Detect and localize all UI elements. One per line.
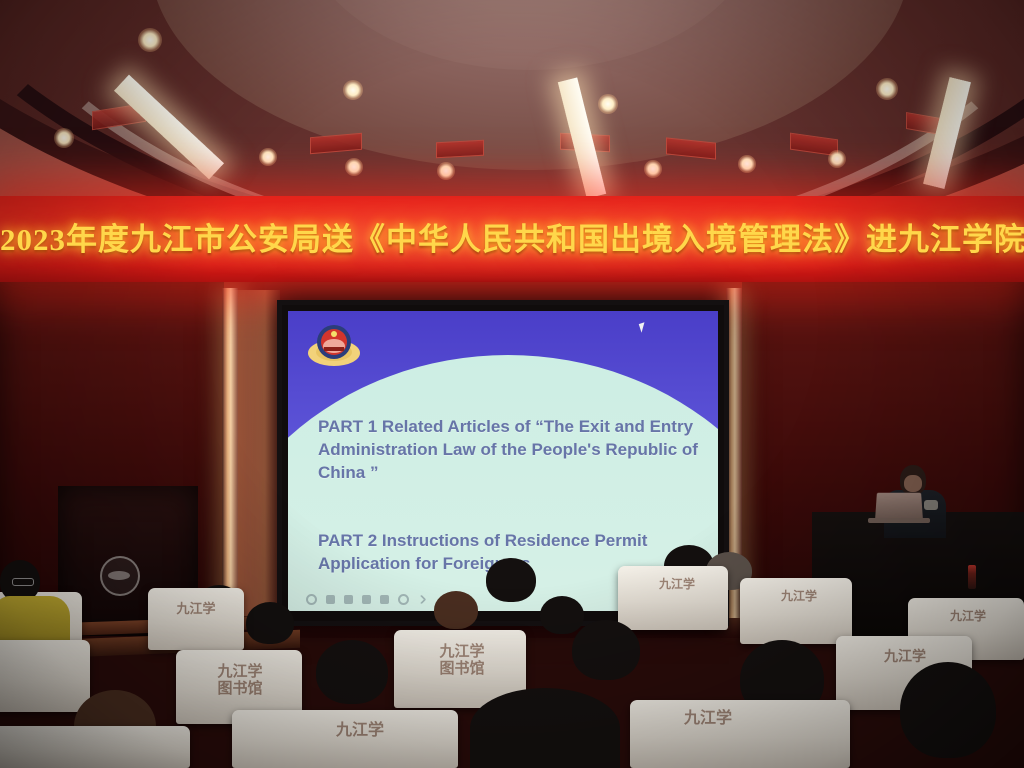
ceiling-spotlight	[343, 80, 363, 100]
pillar-light-left	[222, 288, 238, 618]
seat-cover	[0, 640, 90, 712]
slide-view-icon[interactable]	[362, 595, 371, 604]
audience-head	[572, 620, 640, 680]
banner-text: 2023年度九江市公安局送《中华人民共和国出境入境管理法》进九江学院	[0, 214, 1024, 259]
audience-head	[246, 602, 294, 644]
highlighter-icon[interactable]	[344, 595, 353, 604]
ceiling-vent	[436, 140, 484, 159]
next-arrow-icon[interactable]	[417, 595, 427, 605]
ceiling-spotlight	[598, 94, 618, 114]
ceiling-spotlight	[644, 160, 662, 178]
audience-head	[900, 662, 996, 758]
seat-cover	[232, 710, 458, 768]
presenter-face	[904, 475, 922, 492]
led-banner: 2023年度九江市公安局送《中华人民共和国出境入境管理法》进九江学院	[0, 196, 1024, 282]
ceiling-spotlight	[876, 78, 898, 100]
seat-cover	[740, 578, 852, 644]
presenter-laptop-base	[868, 518, 930, 523]
lecture-hall-photo: 2023年度九江市公安局送《中华人民共和国出境入境管理法》进九江学院 PART …	[0, 0, 1024, 768]
ceiling-spotlight	[828, 150, 846, 168]
ceiling-spotlight	[259, 148, 277, 166]
presentation-toolbar[interactable]	[306, 594, 425, 605]
options-icon[interactable]	[398, 594, 409, 605]
ceiling-spotlight	[738, 155, 756, 173]
ceiling-spotlight	[437, 162, 455, 180]
seat-cover	[0, 726, 190, 768]
seat-cover	[618, 566, 728, 630]
display-icon[interactable]	[380, 595, 389, 604]
presenter-badge	[924, 500, 938, 510]
mouse-cursor-icon	[639, 322, 647, 332]
audience-head	[540, 596, 584, 634]
university-seal-icon	[100, 556, 140, 596]
presenter-laptop	[875, 493, 923, 521]
seat-cover	[630, 700, 850, 768]
audience-head	[470, 688, 620, 768]
ceiling	[0, 0, 1024, 210]
seat-cover	[148, 588, 244, 650]
ceiling-spotlight	[345, 158, 363, 176]
ceiling-spotlight	[54, 128, 74, 148]
water-bottle	[968, 565, 976, 589]
audience-head	[434, 591, 478, 629]
pen-icon[interactable]	[326, 595, 335, 604]
slide-part1-text: PART 1 Related Articles of “The Exit and…	[318, 415, 708, 484]
glasses-icon	[12, 578, 34, 586]
china-police-badge-icon	[306, 319, 362, 369]
ceiling-spotlight	[138, 28, 162, 52]
audience-head	[486, 558, 536, 602]
audience-head	[316, 640, 388, 704]
pen-circle-icon[interactable]	[306, 594, 317, 605]
